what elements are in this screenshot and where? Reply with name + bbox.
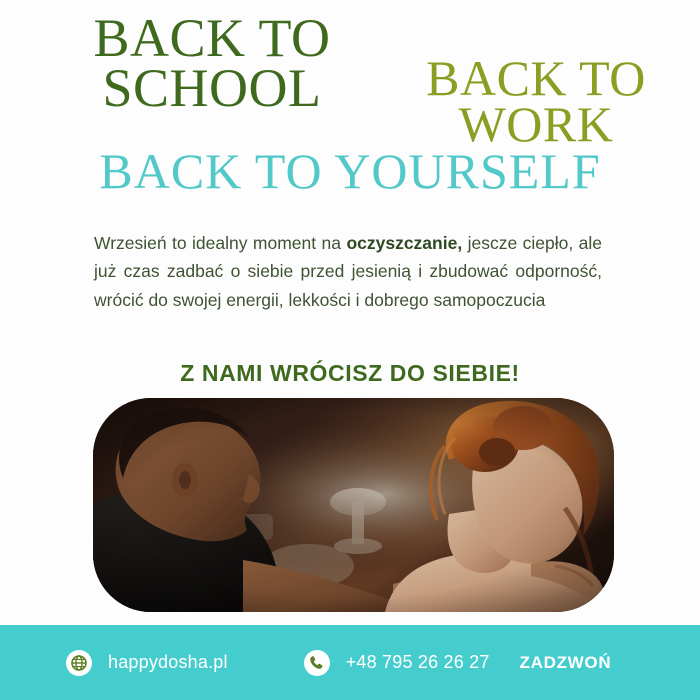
call-now-button[interactable]: ZADZWOŃ [520,653,612,673]
footer-phone-item[interactable]: +48 795 26 26 27 [304,650,490,676]
footer-website-label[interactable]: happydosha.pl [108,652,228,673]
hero-photo [93,398,614,612]
poster-canvas: BACK TO SCHOOL BACK TO WORK BACK TO YOUR… [0,0,700,700]
headline-back-to-yourself: BACK TO YOURSELF [0,148,700,194]
tagline: Z NAMI WRÓCISZ DO SIEBIE! [0,360,700,387]
footer-website-item[interactable]: happydosha.pl [66,650,228,676]
phone-icon [304,650,330,676]
body-text-part-1: Wrzesień to idealny moment na [94,233,346,253]
headline-back-to-work: BACK TO WORK [398,55,674,147]
footer-phone-label[interactable]: +48 795 26 26 27 [346,652,490,673]
body-paragraph: Wrzesień to idealny moment na oczyszczan… [94,229,602,314]
globe-icon [66,650,92,676]
body-emphasis: oczyszczanie, [346,233,462,253]
contact-footer-bar: happydosha.pl +48 795 26 26 27 ZADZWOŃ [0,625,700,700]
headline-back-to-school: BACK TO SCHOOL [62,14,362,113]
hero-photo-illustration [93,398,614,612]
